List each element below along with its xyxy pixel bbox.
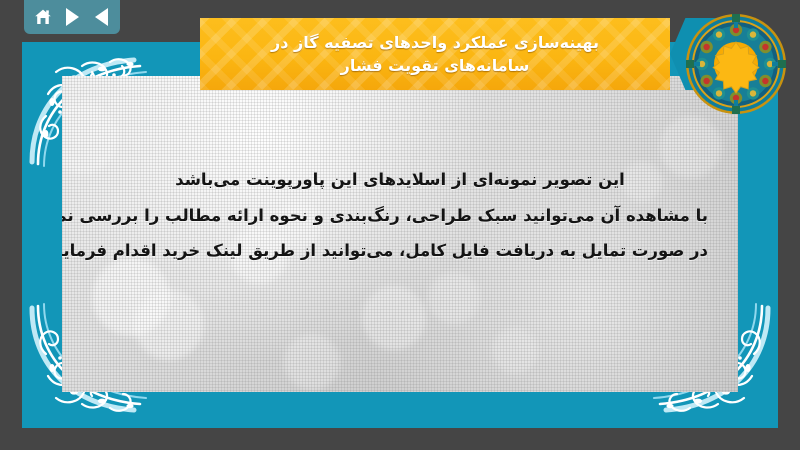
slide-body-text: این تصویر نمونه‌ای از اسلایدهای این پاور…: [92, 172, 708, 279]
title-line: بهینه‌سازی عملکرد واحدهای تصفیه گاز در: [271, 31, 599, 54]
slide-frame: این تصویر نمونه‌ای از اسلایدهای این پاور…: [22, 42, 778, 428]
slide-stage: این تصویر نمونه‌ای از اسلایدهای این پاور…: [0, 0, 800, 450]
title-arrow-shape: [670, 18, 740, 90]
slide-title-banner: بهینه‌سازی عملکرد واحدهای تصفیه گاز در س…: [200, 18, 740, 90]
previous-slide-button[interactable]: [89, 5, 113, 29]
body-line: در صورت تمایل به دریافت فایل کامل، می‌تو…: [92, 243, 708, 260]
bokeh-circle: [660, 116, 722, 178]
bokeh-circle: [62, 102, 118, 174]
slide-canvas: این تصویر نمونه‌ای از اسلایدهای این پاور…: [62, 76, 738, 392]
right-triangle-icon: [66, 8, 79, 26]
bokeh-circle: [284, 334, 340, 390]
left-triangle-icon: [95, 8, 108, 26]
next-slide-button[interactable]: [60, 5, 84, 29]
title-line: سامانه‌های تقویت فشار: [341, 54, 530, 77]
bokeh-circle: [362, 286, 426, 350]
home-button[interactable]: [31, 5, 55, 29]
body-line: این تصویر نمونه‌ای از اسلایدهای این پاور…: [92, 172, 708, 189]
body-line: با مشاهده آن می‌توانید سبک طراحی، رنگ‌بن…: [92, 208, 708, 225]
bokeh-circle: [134, 290, 204, 360]
title-banner-body: بهینه‌سازی عملکرد واحدهای تصفیه گاز در س…: [200, 18, 670, 90]
bokeh-circle: [492, 328, 538, 374]
slide-navigation-bar: [24, 0, 120, 34]
bokeh-circle: [428, 272, 480, 324]
home-icon: [33, 7, 53, 27]
